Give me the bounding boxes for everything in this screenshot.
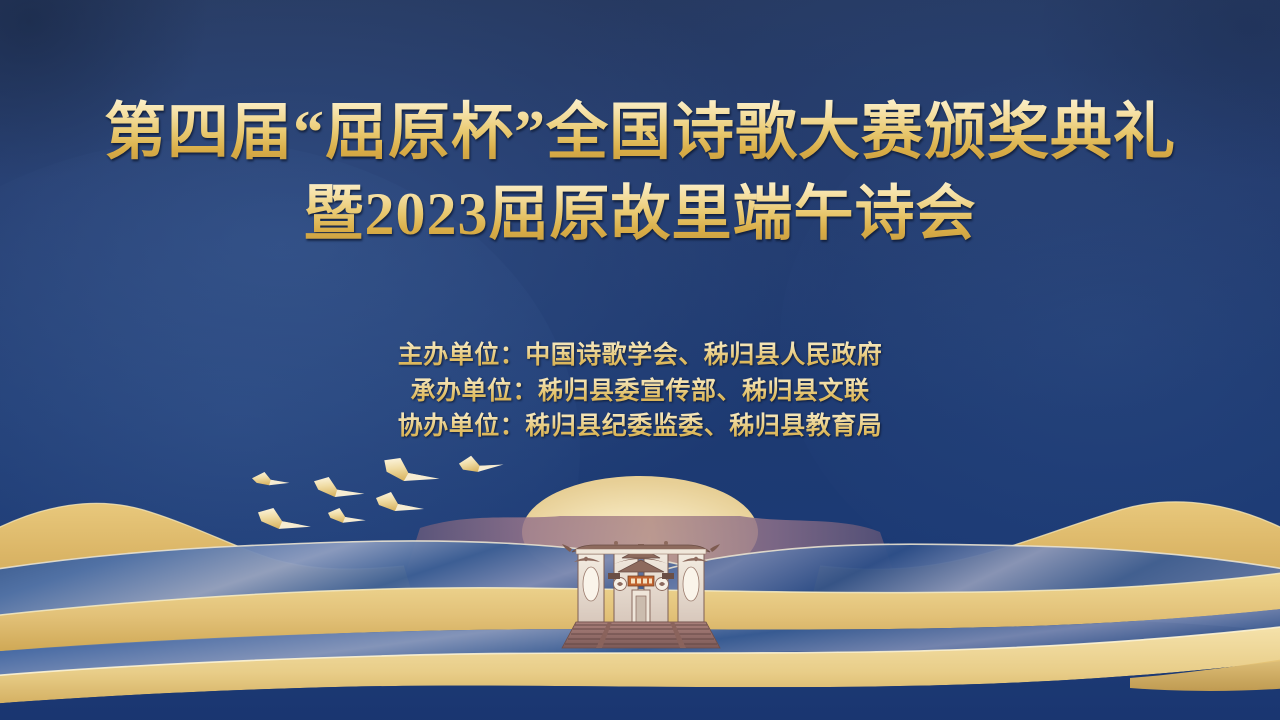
poster-canvas: 第四届“屈原杯”全国诗歌大赛颁奖典礼 暨2023屈原故里端午诗会 主办单位：中国… [0, 0, 1280, 720]
gateway-panel-oval-left [583, 567, 599, 601]
gateway-container [556, 518, 726, 658]
poster-title-block: 第四届“屈原杯”全国诗歌大赛颁奖典礼 暨2023屈原故里端午诗会 [0, 96, 1280, 251]
gateway-tablet-left [608, 573, 620, 579]
chinese-paifang-archway-icon [556, 518, 726, 658]
organizer-line-cohost: 协办单位：秭归县纪委监委、秭归县教育局 [0, 409, 1280, 445]
poster-title-line-1: 第四届“屈原杯”全国诗歌大赛颁奖典礼 [0, 96, 1280, 172]
organizer-list: 主办单位：中国诗歌学会、秭归县人民政府 承办单位：秭归县委宣传部、秭归县文联 协… [0, 338, 1280, 445]
gateway-panel-oval-right [683, 567, 699, 601]
gateway-door-panel [636, 596, 646, 622]
organizer-line-host: 主办单位：中国诗歌学会、秭归县人民政府 [0, 338, 1280, 374]
organizer-line-undertaker: 承办单位：秭归县委宣传部、秭归县文联 [0, 374, 1280, 410]
gateway-tablet-right [662, 573, 674, 579]
poster-title-line-2: 暨2023屈原故里端午诗会 [0, 178, 1280, 251]
gateway-main-roof [562, 544, 720, 554]
gateway-staircase [562, 622, 720, 648]
